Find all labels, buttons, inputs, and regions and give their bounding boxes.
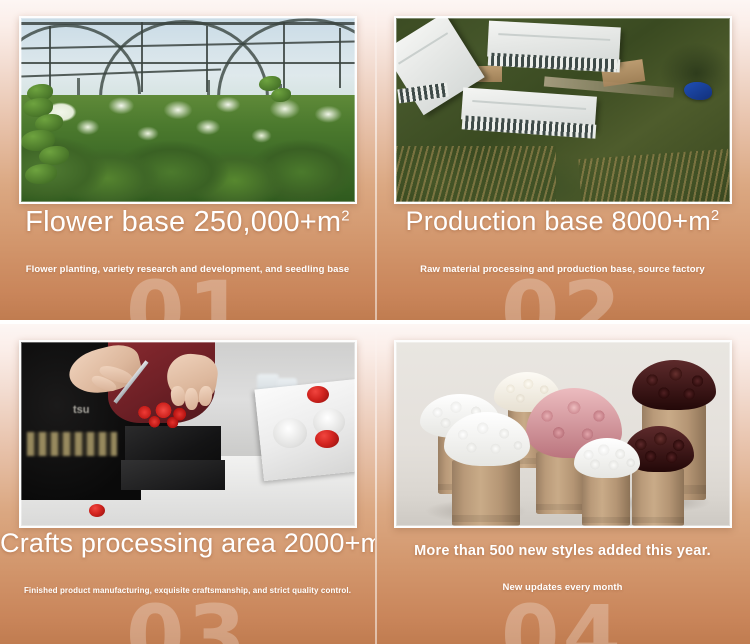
rose-bouquet-boxes-photo[interactable] <box>394 340 732 528</box>
blue-tarp <box>684 82 712 100</box>
rose-box <box>582 470 630 526</box>
feature-grid-stage: 01 <box>0 0 750 644</box>
feature-row-bottom: 03 tsu <box>0 324 750 644</box>
panel-subtitle: Raw material processing and production b… <box>375 264 750 275</box>
panel-title: Production base 8000+m2 <box>375 206 750 237</box>
craftsperson-packing-roses-photo[interactable]: tsu <box>19 340 357 528</box>
panel-title: Flower base 250,000+m2 <box>0 206 375 239</box>
panel-subtitle: Finished product manufacturing, exquisit… <box>0 586 375 595</box>
feature-panel-flower-base[interactable]: 01 <box>0 0 375 320</box>
aerial-factory-buildings-photo[interactable] <box>394 16 732 204</box>
rose-box <box>632 468 684 526</box>
panel-watermark-number: 03 <box>0 594 375 644</box>
feature-panel-new-styles[interactable]: 04 <box>375 324 750 644</box>
greenhouse-flower-rows <box>21 95 355 202</box>
panel-watermark-number: 01 <box>0 270 375 320</box>
panel-subtitle: New updates every month <box>375 582 750 593</box>
panel-watermark-number: 02 <box>375 270 750 320</box>
feature-panel-crafts-processing[interactable]: 03 tsu <box>0 324 375 644</box>
greenhouse-flower-field-photo[interactable] <box>19 16 357 204</box>
feature-panel-production-base[interactable]: 02 <box>375 0 750 320</box>
feature-row-top: 01 <box>0 0 750 320</box>
panel-subtitle: Flower planting, variety research and de… <box>0 264 375 275</box>
red-rose-arrangement <box>125 398 195 434</box>
panel-title: More than 500 new styles added this year… <box>375 536 750 559</box>
panel-title: Crafts processing area 2000+m2 <box>0 528 375 559</box>
rose-box <box>452 460 520 526</box>
panel-watermark-number: 04 <box>375 594 750 644</box>
